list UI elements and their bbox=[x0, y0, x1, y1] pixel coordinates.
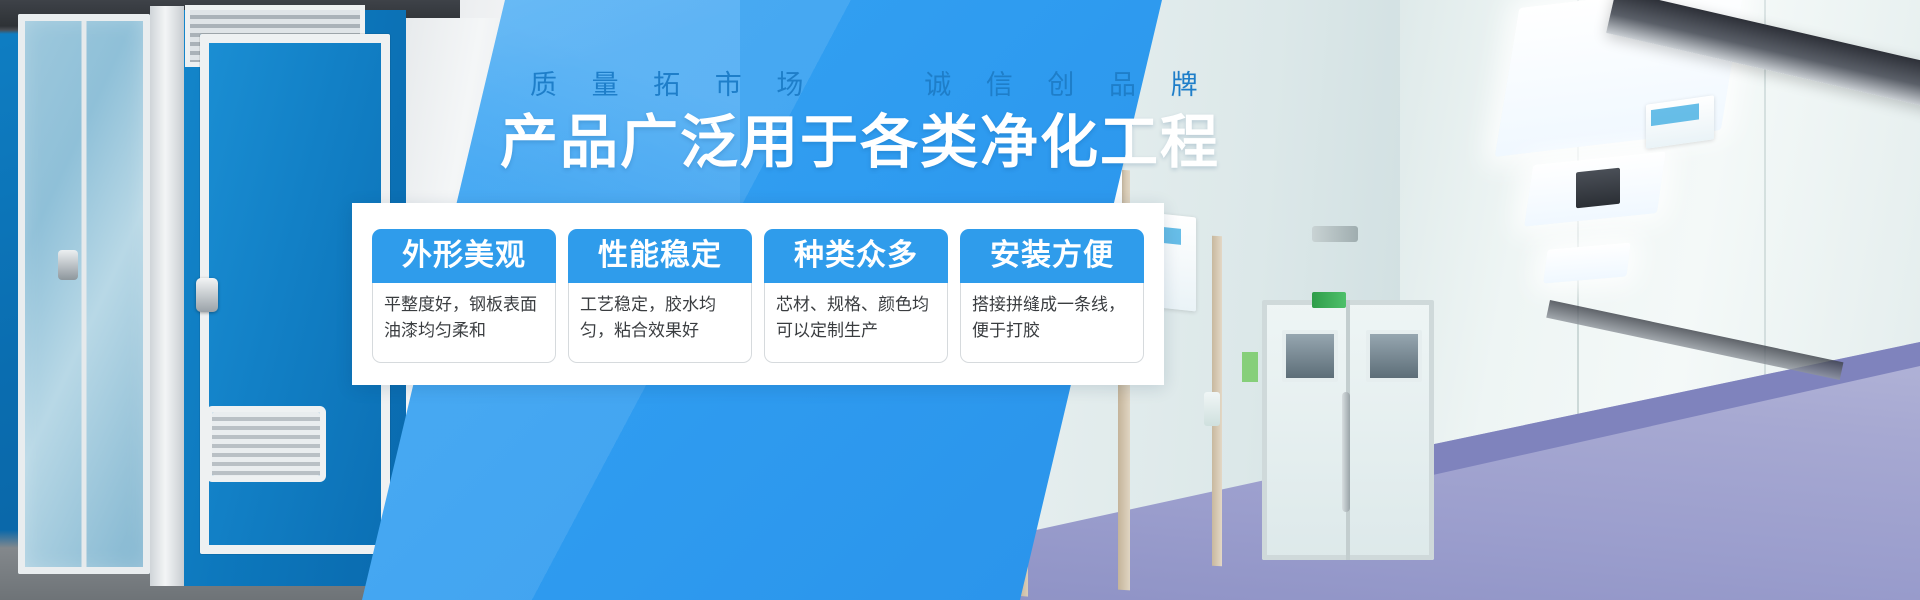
feature-card-text: 工艺稳定，胶水均匀，粘合效果好 bbox=[568, 283, 752, 363]
feature-card-title: 性能稳定 bbox=[568, 229, 752, 283]
feature-card-text: 平整度好，钢板表面油漆均匀柔和 bbox=[372, 283, 556, 363]
feature-card-title: 种类众多 bbox=[764, 229, 948, 283]
banner-subtitle: 质 量 拓 市 场 诚 信 创 品 牌 bbox=[530, 72, 1530, 99]
feature-card[interactable]: 安装方便 搭接拼缝成一条线，便于打胶 bbox=[960, 229, 1144, 363]
promo-banner: 质 量 拓 市 场 诚 信 创 品 牌 产品广泛用于各类净化工程 外形美观 平整… bbox=[0, 0, 1920, 600]
feature-card-text: 芯材、规格、颜色均可以定制生产 bbox=[764, 283, 948, 363]
feature-card[interactable]: 性能稳定 工艺稳定，胶水均匀，粘合效果好 bbox=[568, 229, 752, 363]
feature-card-title: 外形美观 bbox=[372, 229, 556, 283]
banner-headline: 产品广泛用于各类净化工程 bbox=[500, 112, 1600, 173]
feature-card-list: 外形美观 平整度好，钢板表面油漆均匀柔和 性能稳定 工艺稳定，胶水均匀，粘合效果… bbox=[352, 203, 1164, 385]
feature-card[interactable]: 种类众多 芯材、规格、颜色均可以定制生产 bbox=[764, 229, 948, 363]
feature-card-text: 搭接拼缝成一条线，便于打胶 bbox=[960, 283, 1144, 363]
feature-card-title: 安装方便 bbox=[960, 229, 1144, 283]
feature-card-panel: 外形美观 平整度好，钢板表面油漆均匀柔和 性能稳定 工艺稳定，胶水均匀，粘合效果… bbox=[352, 203, 1164, 385]
feature-card[interactable]: 外形美观 平整度好，钢板表面油漆均匀柔和 bbox=[372, 229, 556, 363]
